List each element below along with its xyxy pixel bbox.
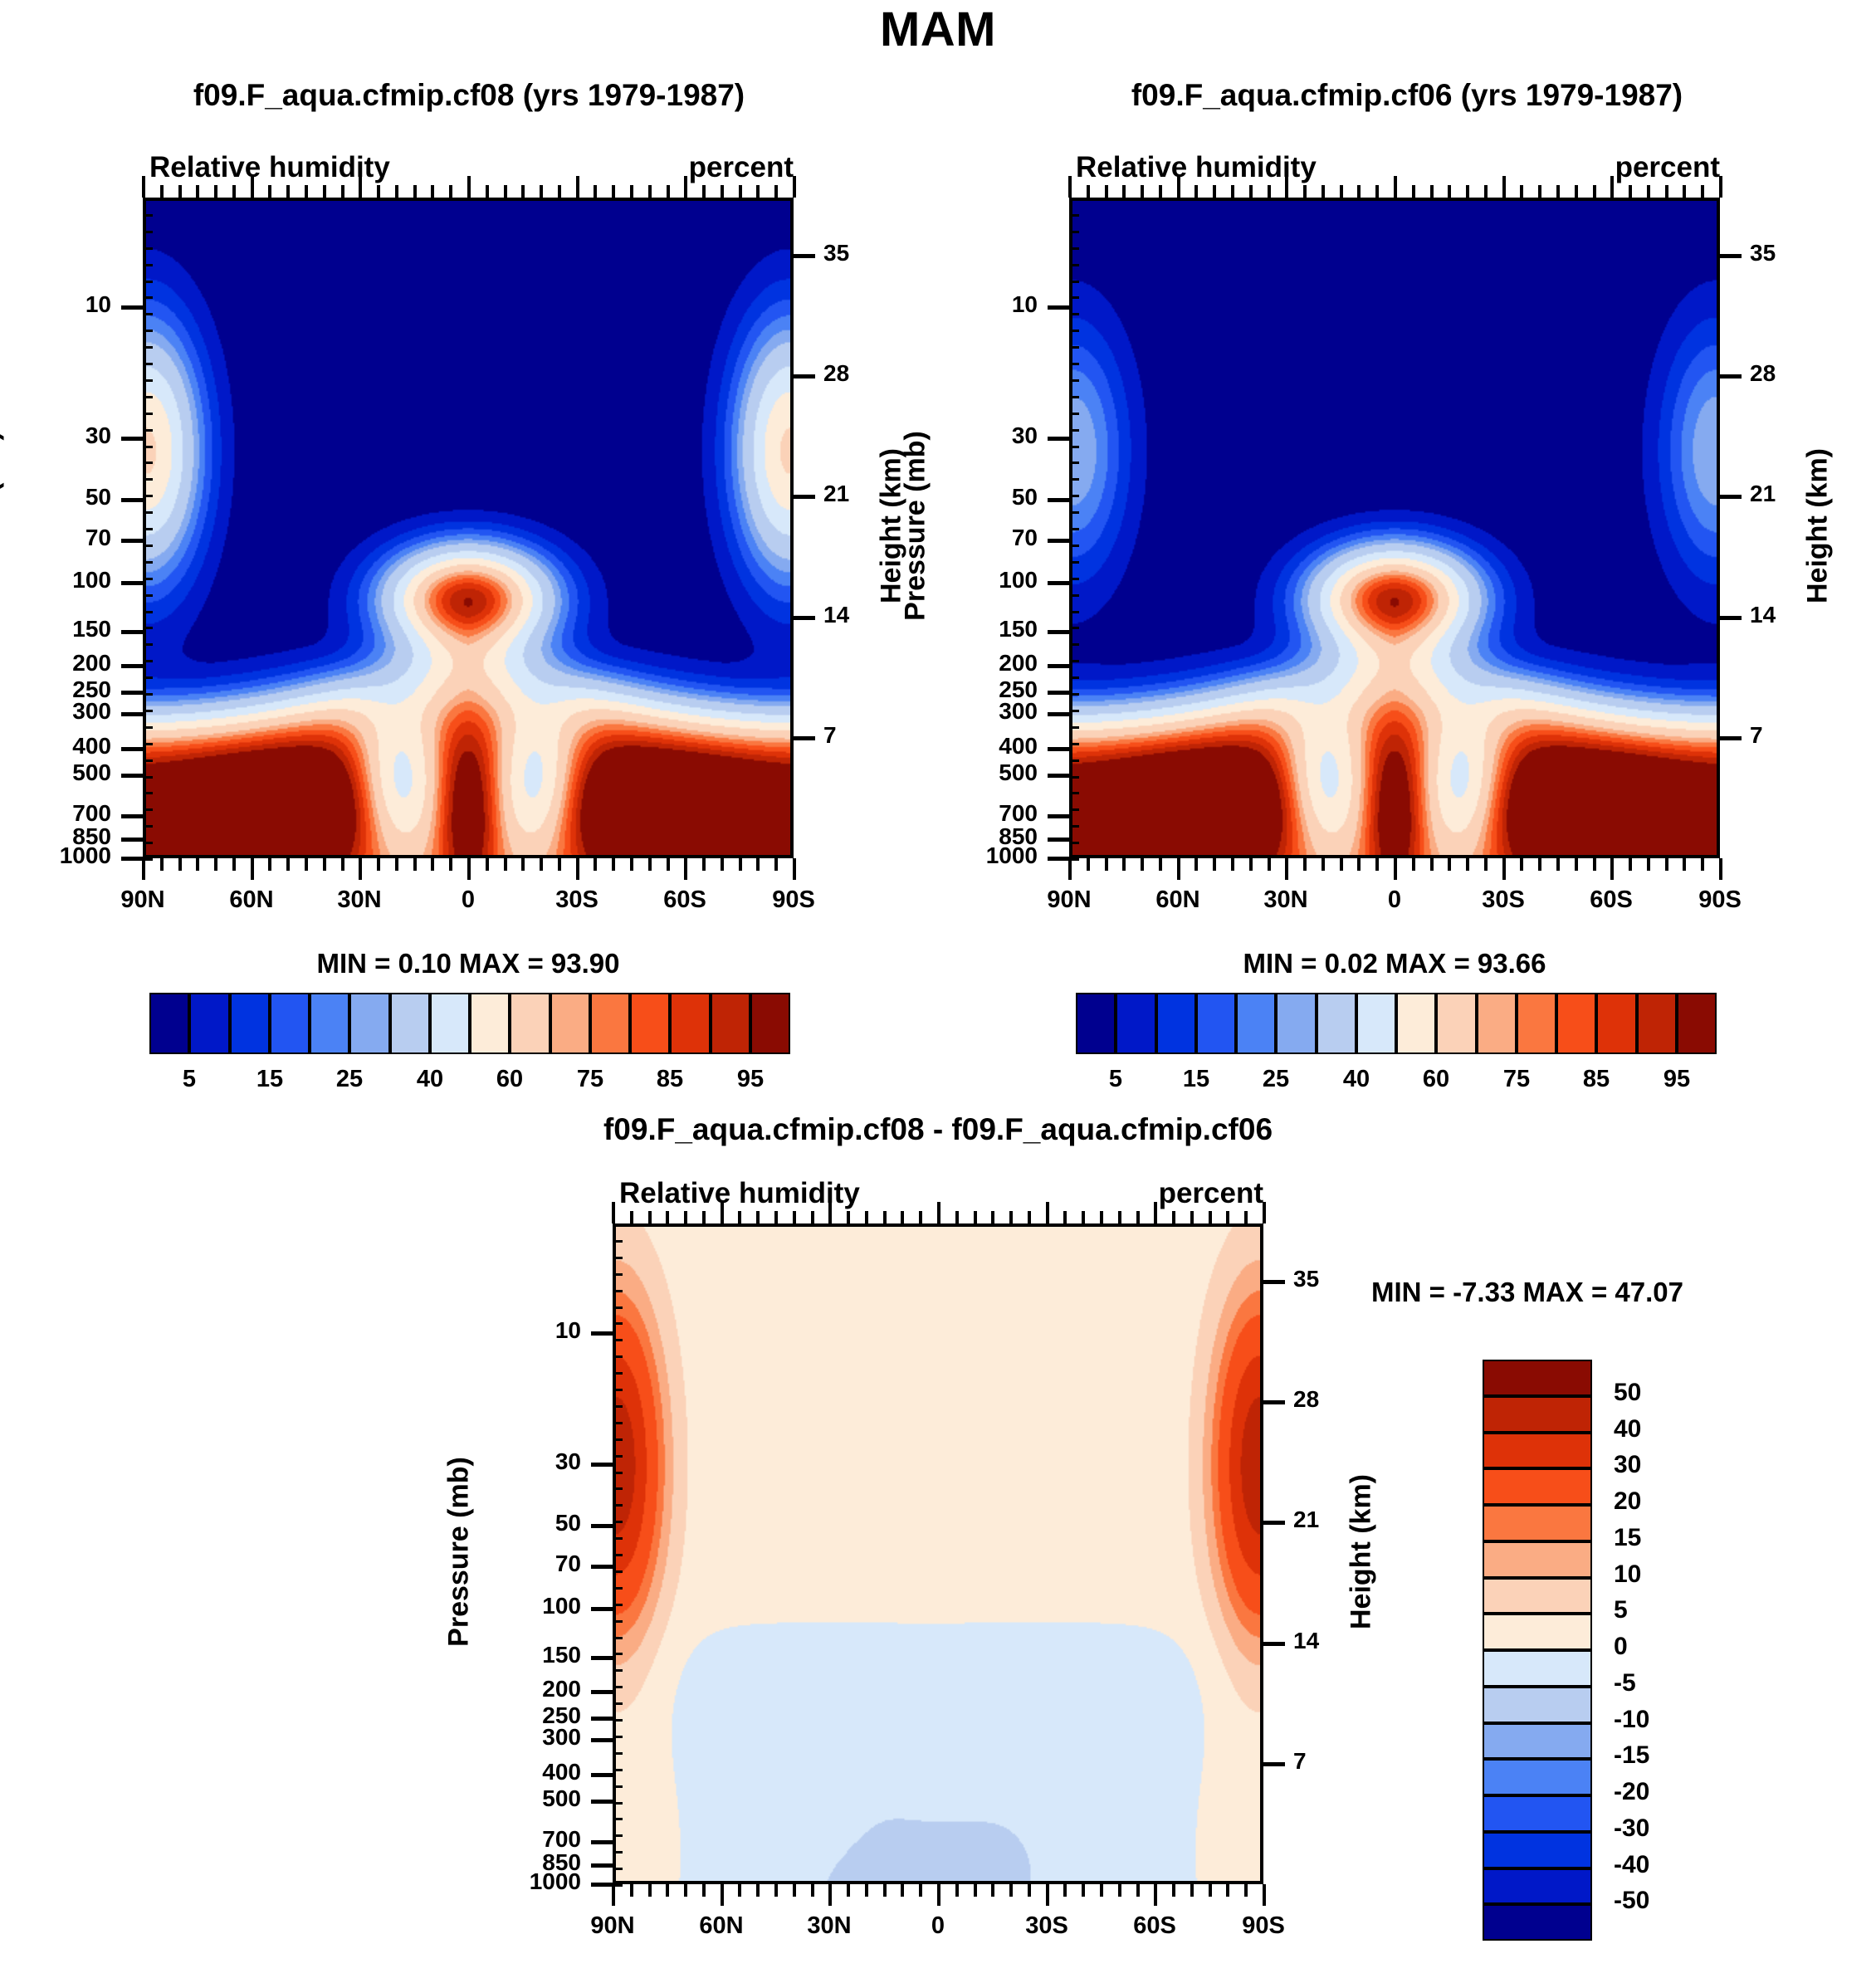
colorbar-tick-label: -15 bbox=[1614, 1741, 1730, 1770]
lat-tick-bottom bbox=[1394, 858, 1397, 880]
lat-tick-bottom bbox=[991, 1884, 994, 1897]
lat-tick-top bbox=[323, 185, 326, 198]
pressure-tick-label: 200 bbox=[463, 1676, 581, 1702]
axis-minor-tick bbox=[613, 1290, 623, 1292]
lat-tick-top bbox=[1172, 1211, 1175, 1223]
minmax-top-left: MIN = 0.10 MAX = 93.90 bbox=[143, 948, 794, 979]
lat-tick-top bbox=[1575, 185, 1578, 198]
pressure-tick bbox=[1048, 630, 1069, 634]
lat-tick-bottom bbox=[883, 1884, 887, 1897]
axis-minor-tick bbox=[1069, 710, 1079, 712]
axis-minor-tick bbox=[613, 1372, 623, 1375]
lat-tick-bottom bbox=[1556, 858, 1560, 871]
axis-minor-tick bbox=[143, 379, 153, 382]
pressure-tick bbox=[1048, 581, 1069, 585]
colorbar-cell bbox=[1483, 1868, 1592, 1905]
lat-tick-bottom bbox=[431, 858, 434, 871]
pressure-tick-label: 100 bbox=[463, 1593, 581, 1619]
colorbar-cell bbox=[1477, 993, 1517, 1054]
variable-label-top-left: Relative humidity bbox=[149, 151, 390, 184]
lat-tick-bottom bbox=[738, 1884, 741, 1897]
lat-tick-top bbox=[486, 185, 489, 198]
pressure-tick bbox=[591, 1565, 613, 1569]
colorbar-cell bbox=[310, 993, 349, 1054]
plot-area-top-right bbox=[1069, 198, 1720, 858]
pressure-tick-label: 100 bbox=[920, 567, 1038, 593]
lat-tick-top bbox=[1322, 185, 1325, 198]
axis-minor-tick bbox=[143, 808, 153, 811]
lat-tick-top bbox=[431, 185, 434, 198]
pressure-tick-label: 70 bbox=[463, 1551, 581, 1577]
colorbar-tick-label: 10 bbox=[1614, 1560, 1730, 1589]
axis-minor-tick bbox=[613, 1405, 623, 1408]
pressure-tick bbox=[1048, 814, 1069, 818]
colorbar-cell bbox=[1483, 1468, 1592, 1505]
colorbar-cell bbox=[1483, 1614, 1592, 1650]
height-tick bbox=[794, 616, 815, 620]
axis-minor-tick bbox=[143, 611, 153, 613]
pressure-tick-label: 70 bbox=[920, 525, 1038, 551]
lat-tick-label: 60S bbox=[1097, 1912, 1213, 1940]
lat-tick-top bbox=[1448, 185, 1451, 198]
lat-tick-top bbox=[1154, 1202, 1157, 1223]
lat-tick-top bbox=[991, 1211, 994, 1223]
lat-tick-bottom bbox=[1082, 1884, 1085, 1897]
pressure-tick-label: 400 bbox=[0, 733, 111, 759]
pressure-tick bbox=[1048, 437, 1069, 441]
height-tick bbox=[1263, 1642, 1285, 1646]
lat-tick-bottom bbox=[594, 858, 597, 871]
lat-tick-bottom bbox=[1610, 858, 1614, 880]
colorbar-cell bbox=[1236, 993, 1276, 1054]
lat-tick-bottom bbox=[612, 858, 615, 871]
colorbar-cell bbox=[390, 993, 430, 1054]
lat-tick-top bbox=[721, 1202, 724, 1223]
pressure-tick bbox=[591, 1800, 613, 1804]
colorbar-cell bbox=[630, 993, 670, 1054]
lat-tick-bottom bbox=[1190, 1884, 1194, 1897]
lat-tick-label: 60N bbox=[1120, 886, 1236, 914]
axis-minor-tick bbox=[1069, 396, 1079, 398]
colorbar-tick-label: -20 bbox=[1614, 1778, 1730, 1806]
lat-tick-top bbox=[1303, 185, 1307, 198]
lat-tick-top bbox=[1593, 185, 1596, 198]
axis-minor-tick bbox=[143, 363, 153, 365]
lat-tick-bottom bbox=[1593, 858, 1596, 871]
lat-tick-top bbox=[1263, 1202, 1266, 1223]
lat-tick-bottom bbox=[1430, 858, 1434, 871]
lat-tick-bottom bbox=[793, 858, 796, 880]
axis-minor-tick bbox=[1069, 313, 1079, 315]
plot-area-top-left bbox=[143, 198, 794, 858]
colorbar-cell bbox=[1483, 1723, 1592, 1760]
colorbar-cell bbox=[1483, 1759, 1592, 1795]
axis-minor-tick bbox=[1069, 776, 1079, 779]
lat-tick-bottom bbox=[1087, 858, 1090, 871]
lat-tick-top bbox=[1231, 185, 1234, 198]
lat-tick-label: 30S bbox=[1445, 886, 1561, 914]
axis-minor-tick bbox=[143, 776, 153, 779]
lat-tick-top bbox=[196, 185, 199, 198]
axis-minor-tick bbox=[143, 462, 153, 464]
axis-minor-tick bbox=[613, 1521, 623, 1523]
lat-tick-bottom bbox=[702, 858, 706, 871]
axis-minor-tick bbox=[613, 1257, 623, 1259]
lat-tick-top bbox=[1100, 1211, 1103, 1223]
lat-tick-top bbox=[1159, 185, 1162, 198]
lat-tick-top bbox=[974, 1211, 977, 1223]
variable-label-top-right: Relative humidity bbox=[1076, 151, 1317, 184]
lat-tick-top bbox=[1194, 185, 1198, 198]
colorbar-cell bbox=[189, 993, 229, 1054]
lat-tick-label: 0 bbox=[410, 886, 526, 914]
axis-minor-tick bbox=[613, 1339, 623, 1341]
axis-minor-tick bbox=[1069, 231, 1079, 233]
lat-tick-bottom bbox=[667, 858, 670, 871]
lat-tick-bottom bbox=[305, 858, 308, 871]
axis-minor-tick bbox=[143, 478, 153, 481]
lat-tick-top bbox=[901, 1211, 904, 1223]
colorbar-tick-label: 50 bbox=[1614, 1379, 1730, 1407]
lat-tick-bottom bbox=[1412, 858, 1415, 871]
lat-tick-bottom bbox=[359, 858, 362, 880]
pressure-tick-label: 300 bbox=[0, 698, 111, 725]
lat-tick-bottom bbox=[1268, 858, 1271, 871]
pressure-tick bbox=[591, 1883, 613, 1887]
pressure-tick bbox=[591, 1863, 613, 1868]
pressure-tick bbox=[1048, 539, 1069, 543]
axis-minor-tick bbox=[1069, 346, 1079, 349]
main-title: MAM bbox=[0, 2, 1876, 57]
lat-tick-bottom bbox=[937, 1884, 940, 1906]
lat-tick-bottom bbox=[1063, 1884, 1067, 1897]
axis-minor-tick bbox=[613, 1306, 623, 1309]
plot-area-bottom-diff bbox=[613, 1223, 1263, 1884]
pressure-tick bbox=[121, 747, 143, 751]
pressure-tick bbox=[121, 774, 143, 778]
lat-tick-bottom bbox=[1209, 1884, 1212, 1897]
lat-tick-top bbox=[811, 1211, 814, 1223]
axis-minor-tick bbox=[1069, 296, 1079, 299]
lat-tick-bottom bbox=[1466, 858, 1469, 871]
height-tick bbox=[794, 736, 815, 740]
colorbar-cell bbox=[270, 993, 310, 1054]
axis-minor-tick bbox=[1069, 743, 1079, 745]
lat-tick-bottom bbox=[1538, 858, 1541, 871]
lat-tick-top bbox=[1177, 176, 1180, 198]
lat-tick-bottom bbox=[1136, 1884, 1140, 1897]
axis-minor-tick bbox=[143, 495, 153, 497]
pressure-tick-label: 100 bbox=[0, 567, 111, 593]
axis-minor-tick bbox=[613, 1736, 623, 1738]
pressure-tick bbox=[121, 712, 143, 716]
lat-tick-bottom bbox=[901, 1884, 904, 1897]
minmax-diff: MIN = -7.33 MAX = 47.07 bbox=[1295, 1277, 1760, 1308]
pressure-tick bbox=[121, 664, 143, 668]
axis-minor-tick bbox=[143, 792, 153, 794]
lat-tick-bottom bbox=[955, 1884, 959, 1897]
minmax-top-right: MIN = 0.02 MAX = 93.66 bbox=[1069, 948, 1720, 979]
pressure-tick-label: 300 bbox=[920, 698, 1038, 725]
lat-tick-top bbox=[847, 1211, 850, 1223]
lat-tick-bottom bbox=[1285, 858, 1288, 880]
axis-minor-tick bbox=[1069, 247, 1079, 250]
axis-minor-tick bbox=[613, 1223, 623, 1226]
axis-minor-tick bbox=[1069, 578, 1079, 580]
lat-tick-top bbox=[1538, 185, 1541, 198]
axis-minor-tick bbox=[1069, 478, 1079, 481]
lat-tick-top bbox=[937, 1202, 940, 1223]
lat-tick-top bbox=[756, 185, 760, 198]
height-tick-label: 35 bbox=[823, 240, 898, 266]
axis-minor-tick bbox=[1069, 627, 1079, 629]
lat-tick-bottom bbox=[232, 858, 236, 871]
lat-tick-top bbox=[774, 185, 778, 198]
pressure-tick bbox=[1048, 838, 1069, 842]
lat-tick-bottom bbox=[251, 858, 254, 880]
axis-minor-tick bbox=[143, 264, 153, 266]
height-tick bbox=[1720, 254, 1742, 258]
lat-tick-label: 30S bbox=[989, 1912, 1105, 1940]
colorbar-tick-label: 40 bbox=[1614, 1415, 1730, 1443]
axis-minor-tick bbox=[1069, 545, 1079, 547]
lat-tick-top bbox=[919, 1211, 922, 1223]
axis-minor-tick bbox=[1069, 281, 1079, 283]
axis-minor-tick bbox=[143, 759, 153, 762]
axis-minor-tick bbox=[143, 627, 153, 629]
lat-tick-bottom bbox=[486, 858, 489, 871]
lat-tick-top bbox=[667, 185, 670, 198]
lat-tick-bottom bbox=[828, 1884, 832, 1906]
axis-minor-tick bbox=[143, 429, 153, 432]
axis-minor-tick bbox=[613, 1570, 623, 1573]
colorbar-cell bbox=[1483, 1360, 1592, 1396]
colorbar-cell bbox=[750, 993, 790, 1054]
colorbar-tick-label: 95 bbox=[701, 1066, 800, 1093]
lat-tick-bottom bbox=[919, 1884, 922, 1897]
colorbar-cell bbox=[470, 993, 510, 1054]
height-tick-label: 7 bbox=[823, 722, 898, 749]
pressure-tick-label: 1000 bbox=[0, 842, 111, 869]
lat-tick-top bbox=[630, 1211, 633, 1223]
colorbar-cell bbox=[1637, 993, 1677, 1054]
colorbar-cell bbox=[1356, 993, 1396, 1054]
lat-tick-top bbox=[1520, 185, 1523, 198]
colorbar-cell bbox=[1483, 1396, 1592, 1433]
axis-minor-tick bbox=[143, 825, 153, 828]
height-axis-title: Height (km) bbox=[1346, 1394, 1378, 1710]
lat-tick-top bbox=[160, 185, 164, 198]
lat-tick-bottom bbox=[774, 1884, 778, 1897]
lat-tick-top bbox=[1412, 185, 1415, 198]
axis-minor-tick bbox=[143, 214, 153, 217]
lat-tick-top bbox=[1009, 1211, 1013, 1223]
colorbar-cell bbox=[1396, 993, 1436, 1054]
lat-tick-top bbox=[684, 1211, 687, 1223]
lat-tick-bottom bbox=[721, 858, 724, 871]
lat-tick-bottom bbox=[847, 1884, 850, 1897]
colorbar-tick-label: 95 bbox=[1627, 1066, 1727, 1093]
height-tick-label: 7 bbox=[1750, 722, 1825, 749]
colorbar-cell bbox=[149, 993, 189, 1054]
colorbar-cell bbox=[1483, 1687, 1592, 1723]
lat-tick-bottom bbox=[721, 1884, 724, 1906]
pressure-axis-title: Pressure (mb) bbox=[900, 352, 932, 701]
lat-tick-bottom bbox=[1154, 1884, 1157, 1906]
lat-tick-top bbox=[1213, 185, 1216, 198]
lat-tick-top bbox=[1285, 176, 1288, 198]
axis-minor-tick bbox=[1069, 726, 1079, 729]
axis-minor-tick bbox=[143, 511, 153, 514]
pressure-tick-label: 70 bbox=[0, 525, 111, 551]
lat-tick-top bbox=[1068, 176, 1072, 198]
colorbar-cell bbox=[590, 993, 630, 1054]
lat-tick-top bbox=[1484, 185, 1488, 198]
axis-minor-tick bbox=[143, 346, 153, 349]
lat-tick-bottom bbox=[1118, 1884, 1121, 1897]
lat-tick-bottom bbox=[540, 858, 543, 871]
height-tick-label: 7 bbox=[1293, 1748, 1368, 1775]
pressure-tick bbox=[591, 1331, 613, 1336]
colorbar-cell bbox=[1436, 993, 1476, 1054]
axis-minor-tick bbox=[613, 1834, 623, 1837]
axis-minor-tick bbox=[143, 743, 153, 745]
axis-minor-tick bbox=[1069, 511, 1079, 514]
colorbar-cell bbox=[430, 993, 470, 1054]
axis-minor-tick bbox=[613, 1389, 623, 1391]
lat-tick-top bbox=[702, 1211, 706, 1223]
lat-tick-top bbox=[684, 176, 687, 198]
pressure-tick bbox=[121, 838, 143, 842]
units-label-top-right: percent bbox=[1562, 151, 1720, 184]
lat-tick-top bbox=[702, 185, 706, 198]
lat-tick-top bbox=[178, 185, 182, 198]
axis-minor-tick bbox=[613, 1769, 623, 1771]
panel-title-top-right: f09.F_aqua.cfmip.cf06 (yrs 1979-1987) bbox=[938, 78, 1876, 113]
pressure-tick bbox=[1048, 664, 1069, 668]
lat-tick-bottom bbox=[1028, 1884, 1031, 1897]
axis-minor-tick bbox=[613, 1669, 623, 1672]
pressure-tick-label: 500 bbox=[920, 759, 1038, 786]
lat-tick-top bbox=[1209, 1211, 1212, 1223]
colorbar-cell bbox=[1156, 993, 1196, 1054]
lat-tick-top bbox=[1141, 185, 1144, 198]
lat-tick-bottom bbox=[1575, 858, 1578, 871]
axis-minor-tick bbox=[613, 1455, 623, 1458]
lat-tick-label: 30N bbox=[301, 886, 418, 914]
axis-minor-tick bbox=[143, 396, 153, 398]
lat-tick-bottom bbox=[323, 858, 326, 871]
lat-tick-bottom bbox=[576, 858, 579, 880]
lat-tick-label: 60N bbox=[663, 1912, 779, 1940]
colorbar-cell bbox=[1677, 993, 1717, 1054]
colorbar-cell bbox=[1483, 1904, 1592, 1941]
pressure-tick-label: 10 bbox=[0, 291, 111, 318]
lat-tick-top bbox=[214, 185, 217, 198]
lat-tick-bottom bbox=[1520, 858, 1523, 871]
axis-minor-tick bbox=[1069, 413, 1079, 415]
pressure-tick-label: 150 bbox=[463, 1642, 581, 1668]
axis-minor-tick bbox=[143, 578, 153, 580]
lat-tick-bottom bbox=[178, 858, 182, 871]
pressure-tick bbox=[1048, 305, 1069, 310]
lat-tick-label: 90S bbox=[735, 886, 852, 914]
colorbar-cell bbox=[1483, 1578, 1592, 1614]
variable-label-bottom-diff: Relative humidity bbox=[619, 1177, 860, 1210]
lat-tick-bottom bbox=[1502, 858, 1506, 880]
axis-minor-tick bbox=[613, 1604, 623, 1606]
lat-tick-bottom bbox=[1100, 1884, 1103, 1897]
lat-tick-bottom bbox=[1244, 1884, 1248, 1897]
axis-minor-tick bbox=[143, 313, 153, 315]
height-axis-title: Height (km) bbox=[1802, 369, 1834, 684]
lat-tick-top bbox=[1502, 176, 1506, 198]
pressure-tick-label: 50 bbox=[0, 484, 111, 510]
axis-minor-tick bbox=[143, 660, 153, 662]
lat-tick-bottom bbox=[1231, 858, 1234, 871]
lat-tick-top bbox=[648, 185, 652, 198]
lat-tick-bottom bbox=[648, 858, 652, 871]
panel-title-top-left: f09.F_aqua.cfmip.cf08 (yrs 1979-1987) bbox=[0, 78, 938, 113]
pressure-tick-label: 150 bbox=[920, 616, 1038, 642]
axis-minor-tick bbox=[613, 1653, 623, 1655]
lat-tick-top bbox=[1028, 1211, 1031, 1223]
axis-minor-tick bbox=[1069, 214, 1079, 217]
height-tick bbox=[1263, 1521, 1285, 1525]
height-tick bbox=[1720, 495, 1742, 499]
axis-minor-tick bbox=[613, 1355, 623, 1358]
pressure-tick-label: 400 bbox=[920, 733, 1038, 759]
lat-tick-top bbox=[721, 185, 724, 198]
lat-tick-bottom bbox=[702, 1884, 706, 1897]
lat-tick-bottom bbox=[612, 1884, 615, 1906]
lat-tick-bottom bbox=[196, 858, 199, 871]
contour-field-top-left bbox=[146, 201, 790, 855]
colorbar-tick-label: -5 bbox=[1614, 1669, 1730, 1697]
lat-tick-bottom bbox=[1647, 858, 1650, 871]
lat-tick-top bbox=[883, 1211, 887, 1223]
lat-tick-label: 30N bbox=[771, 1912, 887, 1940]
colorbar-cell bbox=[1276, 993, 1316, 1054]
lat-tick-bottom bbox=[1105, 858, 1108, 871]
pressure-tick bbox=[121, 857, 143, 861]
pressure-tick bbox=[121, 691, 143, 695]
pressure-axis-title: Pressure (mb) bbox=[0, 352, 6, 701]
lat-tick-top bbox=[666, 1211, 669, 1223]
axis-minor-tick bbox=[143, 545, 153, 547]
lat-tick-bottom bbox=[630, 858, 633, 871]
lat-tick-bottom bbox=[142, 858, 145, 880]
pressure-tick-label: 1000 bbox=[463, 1868, 581, 1895]
lat-tick-bottom bbox=[1177, 858, 1180, 880]
axis-minor-tick bbox=[143, 561, 153, 564]
pressure-tick bbox=[1048, 774, 1069, 778]
pressure-tick-label: 500 bbox=[0, 759, 111, 786]
axis-minor-tick bbox=[613, 1719, 623, 1722]
lat-tick-top bbox=[305, 185, 308, 198]
axis-minor-tick bbox=[1069, 429, 1079, 432]
pressure-tick-label: 150 bbox=[0, 616, 111, 642]
lat-tick-bottom bbox=[1375, 858, 1379, 871]
lat-tick-top bbox=[521, 185, 525, 198]
lat-tick-top bbox=[1394, 176, 1397, 198]
axis-minor-tick bbox=[143, 676, 153, 679]
lat-tick-bottom bbox=[1009, 1884, 1013, 1897]
lat-tick-top bbox=[1136, 1211, 1140, 1223]
colorbar-tick-label: -40 bbox=[1614, 1851, 1730, 1879]
lat-tick-top bbox=[865, 1211, 868, 1223]
pressure-tick-label: 10 bbox=[920, 291, 1038, 318]
